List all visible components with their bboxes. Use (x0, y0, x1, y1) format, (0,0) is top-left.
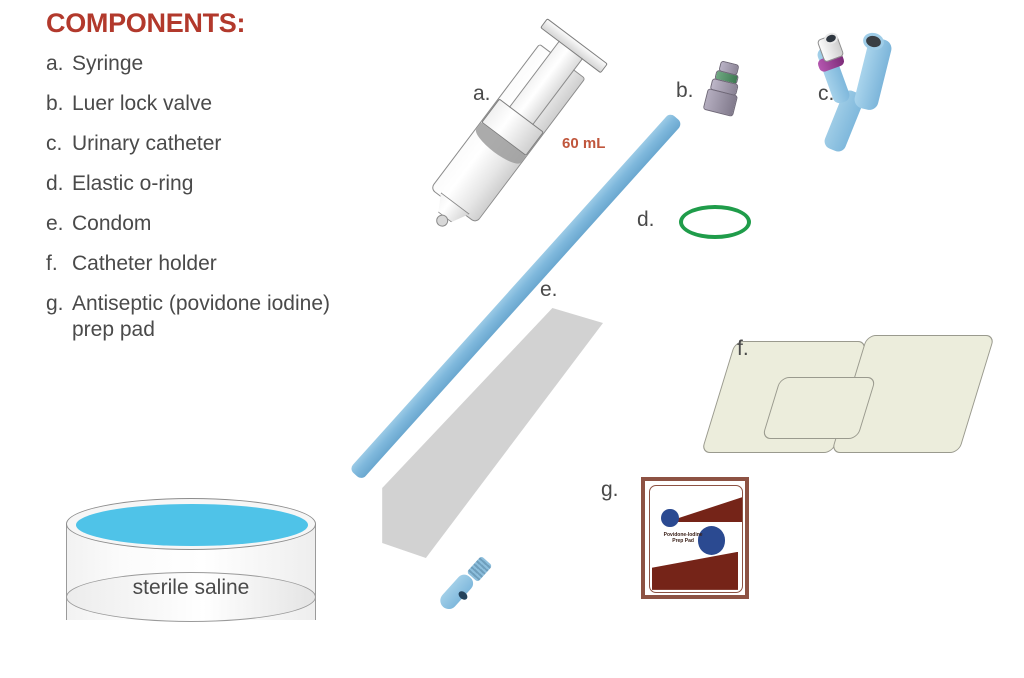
figure-label-e: e. (540, 278, 558, 302)
legend-key-g: g. (46, 291, 72, 317)
elastic-o-ring-illustration (679, 205, 751, 239)
condom-illustration (373, 308, 603, 558)
legend-label-elastic-o-ring: Elastic o-ring (72, 171, 376, 197)
list-item: a. Syringe (46, 51, 376, 77)
list-item: f. Catheter holder (46, 251, 376, 277)
saline-liquid (76, 504, 308, 546)
figure-label-g: g. (601, 478, 619, 502)
prep-pad-package: Povidone-Iodine Prep Pad (649, 485, 743, 593)
basin-rim (66, 498, 316, 550)
condom-shape (373, 308, 603, 558)
page-title: COMPONENTS: (46, 8, 376, 39)
prep-pad-dot-small (661, 509, 678, 527)
prep-pad-wedge-bottom (652, 552, 738, 590)
list-item: d. Elastic o-ring (46, 171, 376, 197)
legend-key-f: f. (46, 251, 72, 277)
sterile-saline-basin: sterile saline (66, 498, 316, 643)
legend-key-d: d. (46, 171, 72, 197)
legend-label-syringe: Syringe (72, 51, 376, 77)
figure-label-c: c. (818, 82, 834, 106)
prep-pad-label-line1: Povidone-Iodine (659, 532, 707, 538)
legend-label-condom: Condom (72, 211, 376, 237)
prep-pad-label: Povidone-Iodine Prep Pad (659, 532, 707, 544)
catheter-holder-illustration (718, 333, 988, 463)
catheter-tip (437, 571, 476, 612)
figure-label-f: f. (737, 337, 749, 361)
legend-key-b: b. (46, 91, 72, 117)
holder-pad-center (762, 377, 877, 439)
list-item: b. Luer lock valve (46, 91, 376, 117)
list-item: c. Urinary catheter (46, 131, 376, 157)
legend-label-catheter-holder: Catheter holder (72, 251, 376, 277)
list-item: e. Condom (46, 211, 376, 237)
legend-label-urinary-catheter: Urinary catheter (72, 131, 376, 157)
figure-label-d: d. (637, 208, 655, 232)
legend-key-a: a. (46, 51, 72, 77)
antiseptic-prep-pad-illustration: Povidone-Iodine Prep Pad (641, 477, 749, 599)
saline-label: sterile saline (66, 576, 316, 600)
legend-label-luer-lock-valve: Luer lock valve (72, 91, 376, 117)
legend-key-e: e. (46, 211, 72, 237)
list-item: g. Antiseptic (povidone iodine) prep pad (46, 291, 376, 343)
legend-key-c: c. (46, 131, 72, 157)
components-legend: COMPONENTS: a. Syringe b. Luer lock valv… (46, 8, 376, 357)
prep-pad-label-line2: Prep Pad (659, 538, 707, 544)
legend-label-antiseptic-prep-pad: Antiseptic (povidone iodine) prep pad (72, 291, 376, 343)
illustration-canvas: COMPONENTS: a. Syringe b. Luer lock valv… (0, 0, 1024, 678)
